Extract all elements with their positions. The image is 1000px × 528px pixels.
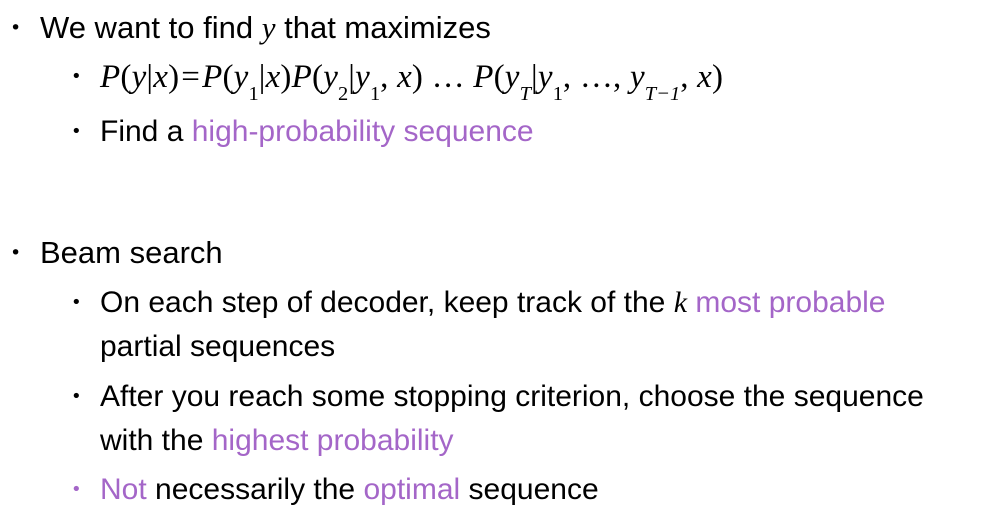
bullet-beam-search: • Beam search: [0, 231, 1000, 275]
bullet-marker-icon: •: [71, 468, 82, 512]
math-y: y: [630, 59, 645, 95]
math-vbar: |: [259, 59, 266, 95]
math-P: P: [202, 59, 222, 95]
math-P: P: [292, 59, 312, 95]
objective-text-post: that maximizes: [275, 10, 490, 45]
math-x: x: [397, 59, 412, 95]
list-item: • Find a high-probability sequence: [0, 110, 1000, 154]
bullet-not-optimal: • Not necessarily the optimal sequence: [0, 468, 1000, 512]
list-item: • Not necessarily the optimal sequence: [0, 468, 1000, 512]
math-sub-two: 2: [338, 83, 348, 105]
math-rparen: ): [280, 59, 291, 95]
list-item-text: We want to find y that maximizes: [40, 6, 1000, 50]
list-item-text: On each step of decoder, keep track of t…: [100, 281, 960, 369]
slide-canvas: • We want to find y that maximizes • P(y…: [0, 0, 1000, 528]
math-subscript-1: 1: [370, 83, 380, 105]
math-equals: =: [179, 59, 202, 95]
math-rparen: ): [412, 59, 423, 95]
math-P: P: [473, 59, 493, 95]
math-ellipsis: …: [432, 59, 465, 95]
find-text-pre: Find a: [100, 115, 192, 148]
objective-variable-y: y: [262, 10, 276, 45]
list-item-text: After you reach some stopping criterion,…: [100, 375, 960, 463]
list-item: • P(y|x)=P(y1|x)P(y2|y1, x) … P(yT|y1, ……: [0, 53, 1000, 102]
bullet-marker-icon: •: [71, 53, 82, 101]
math-y: y: [505, 59, 520, 95]
math-P: P: [100, 59, 120, 95]
math-sub-one: 1: [553, 83, 563, 105]
math-comma: ,: [680, 59, 688, 95]
math-y: y: [234, 59, 249, 95]
bullet-factorization-formula: • P(y|x)=P(y1|x)P(y2|y1, x) … P(yT|y1, ……: [0, 53, 1000, 102]
math-subscript-1: 1: [553, 83, 563, 105]
math-x: x: [266, 59, 281, 95]
bullet-keep-k-most-probable: • On each step of decoder, keep track of…: [0, 281, 960, 369]
beam-search-label: Beam search: [40, 231, 1000, 275]
probability-factorization-formula: P(y|x)=P(y1|x)P(y2|y1, x) … P(yT|y1, …, …: [100, 59, 723, 95]
math-comma: ,: [613, 59, 621, 95]
math-lparen: (: [494, 59, 505, 95]
math-y: y: [132, 59, 147, 95]
not-text-accent-2: optimal: [363, 473, 460, 506]
math-rparen: ): [168, 59, 179, 95]
list-item-text: Find a high-probability sequence: [100, 110, 1000, 154]
math-x: x: [697, 59, 712, 95]
math-rparen: ): [712, 59, 723, 95]
not-text-accent: Not: [100, 473, 147, 506]
list-item-text: Not necessarily the optimal sequence: [100, 468, 1000, 512]
list-item: • After you reach some stopping criterio…: [0, 375, 960, 463]
keep-text-accent: most probable: [695, 286, 885, 319]
math-sub-one: 1: [370, 83, 380, 105]
keep-text-pre: On each step of decoder, keep track of t…: [100, 286, 674, 319]
math-sub-one: 1: [249, 83, 259, 105]
keep-text-post: partial sequences: [100, 330, 335, 363]
list-item: • We want to find y that maximizes: [0, 6, 1000, 50]
bullet-marker-icon: •: [10, 231, 21, 275]
bullet-marker-icon: •: [71, 375, 82, 419]
math-sub-T: T: [520, 83, 531, 105]
not-text-post: sequence: [460, 473, 598, 506]
bullet-marker-icon: •: [71, 110, 82, 154]
math-y: y: [323, 59, 338, 95]
math-x: x: [153, 59, 168, 95]
find-text-accent: high-probability sequence: [192, 115, 534, 148]
bullet-marker-icon: •: [10, 6, 21, 50]
list-item: • Beam search: [0, 231, 1000, 275]
math-comma: ,: [563, 59, 571, 95]
bullet-stopping-criterion: • After you reach some stopping criterio…: [0, 375, 960, 463]
keep-variable-k: k: [674, 286, 687, 319]
math-y: y: [355, 59, 370, 95]
math-comma: ,: [380, 59, 388, 95]
math-ellipsis: …: [580, 59, 613, 95]
math-sub-T-minus-1: T−1: [645, 83, 680, 105]
bullet-marker-icon: •: [71, 281, 82, 325]
bullet-find-sequence: • Find a high-probability sequence: [0, 110, 1000, 154]
not-text-mid: necessarily the: [147, 473, 364, 506]
math-lparen: (: [222, 59, 233, 95]
list-item: • On each step of decoder, keep track of…: [0, 281, 960, 369]
objective-text-pre: We want to find: [40, 10, 262, 45]
stop-text-accent: highest probability: [212, 424, 454, 457]
math-subscript-T: T: [520, 83, 531, 105]
math-lparen: (: [312, 59, 323, 95]
math-subscript-1: 1: [249, 83, 259, 105]
math-vbar: |: [531, 59, 538, 95]
math-subscript-T-minus-1: T−1: [645, 83, 680, 105]
math-subscript-2: 2: [338, 83, 348, 105]
math-lparen: (: [120, 59, 131, 95]
math-y: y: [538, 59, 553, 95]
bullet-objective: • We want to find y that maximizes: [0, 6, 1000, 50]
